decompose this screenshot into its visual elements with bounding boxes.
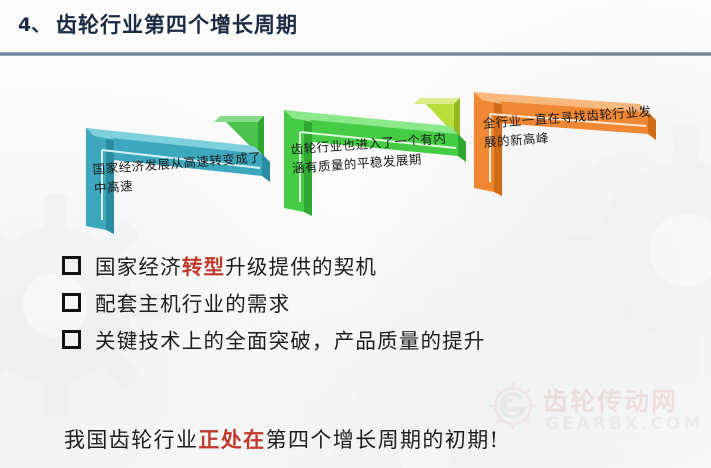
bullet-text-accent: 转型 xyxy=(182,255,225,279)
conclusion-post: 第四个增长周期的初期! xyxy=(266,428,500,452)
conclusion-line: 我国齿轮行业正处在第四个增长周期的初期! xyxy=(64,424,499,454)
page-title: 齿轮行业第四个增长周期 xyxy=(56,9,298,39)
bullet-text: 配套主机行业的需求 xyxy=(95,290,290,318)
bullet-text-post: 升级提供的契机 xyxy=(225,255,377,279)
bullet-text-pre: 国家经济 xyxy=(95,255,182,279)
site-watermark: 齿轮传动网 GEARBX.COM xyxy=(487,380,701,446)
bullet-text: 国家经济转型升级提供的契机 xyxy=(95,253,377,281)
bullet-list: 国家经济转型升级提供的契机 配套主机行业的需求 关键技术上的全面突破，产品质量的… xyxy=(62,253,662,364)
banner-economy-speed: 国家经济发展从高速转变成了中高速 xyxy=(72,108,302,233)
bullet-text-pre: 关键技术上的全面突破，产品质量的提升 xyxy=(95,329,486,353)
conclusion-accent: 正处在 xyxy=(198,427,265,452)
list-item: 国家经济转型升级提供的契机 xyxy=(62,253,662,281)
background-texture xyxy=(0,0,711,468)
slide-header: 4、 齿轮行业第四个增长周期 xyxy=(0,0,711,55)
list-item: 配套主机行业的需求 xyxy=(62,290,662,318)
checkbox-square-icon xyxy=(62,330,81,349)
header-divider xyxy=(0,52,711,56)
conclusion-pre: 我国齿轮行业 xyxy=(64,428,198,452)
slide-canvas: 4、 齿轮行业第四个增长周期 国家经济发展 xyxy=(0,0,711,468)
bullet-text-pre: 配套主机行业的需求 xyxy=(95,292,290,316)
list-item: 关键技术上的全面突破，产品质量的提升 xyxy=(62,327,662,355)
checkbox-square-icon xyxy=(62,256,81,275)
banner-new-peak: 全行业一直在寻找齿轮行业发展的新高峰 xyxy=(460,72,685,197)
header-number: 4、 xyxy=(18,10,50,37)
background-wash xyxy=(0,0,711,468)
bullet-text: 关键技术上的全面突破，产品质量的提升 xyxy=(95,327,486,355)
watermark-brand: 齿轮传动网 xyxy=(543,382,678,418)
watermark-domain: GEARBX.COM xyxy=(545,414,703,434)
checkbox-square-icon xyxy=(62,293,81,312)
